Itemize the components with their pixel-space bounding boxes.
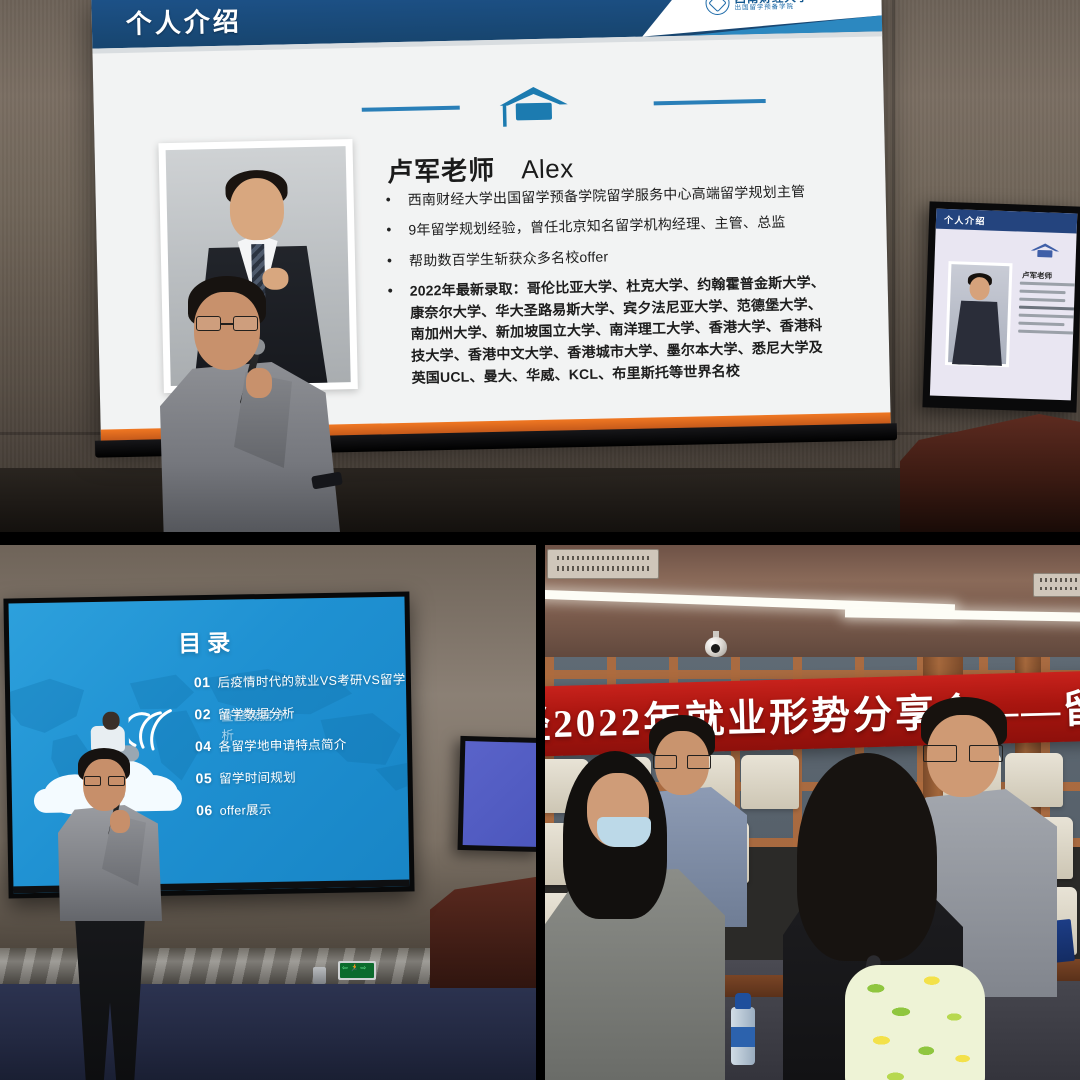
side-monitor-title: 个人介绍	[936, 209, 1078, 234]
divider-row	[93, 75, 884, 136]
side-monitor-person-name: 卢军老师	[1022, 270, 1052, 282]
toc-label: 留学数据分析	[218, 702, 295, 722]
toc-item: 02 留学数据分析	[194, 700, 409, 723]
graduation-cap-icon	[1030, 242, 1061, 261]
swufe-crest-icon	[705, 0, 730, 15]
toc-list: 01 后疫情时代的就业VS考研VS留学 02 留学数据分析 04 各留学地申请特…	[194, 668, 410, 832]
toc-number: 04	[195, 738, 212, 754]
logo-subtitle: 出国留学预备学院	[735, 4, 810, 12]
toc-item: 06 offer展示	[196, 796, 410, 819]
photo-collage: 个人介绍 西南财经大学 出国留学预备学院	[0, 0, 1080, 1080]
speaker-glasses	[84, 776, 125, 786]
toc-title: 目录	[9, 621, 406, 662]
slide-title: 个人介绍	[125, 1, 242, 41]
person-name-row: 卢军老师Alex	[387, 148, 574, 189]
audience-person	[545, 751, 725, 1080]
toc-label: 后疫情时代的就业VS考研VS留学	[217, 669, 405, 691]
wall-seam	[892, 0, 895, 532]
backpack	[845, 965, 985, 1080]
ptz-dome-camera-icon	[705, 631, 727, 657]
bullet-item: 帮助数百学生斩获众多名校offer	[383, 241, 851, 272]
bullet-list: 西南财经大学出国留学预备学院留学服务中心高端留学规划主管 9年留学规划经验，曾任…	[382, 180, 854, 399]
divider-line-left	[362, 106, 460, 112]
university-logo: 西南财经大学 出国留学预备学院	[705, 0, 809, 15]
speaker-person	[160, 276, 340, 532]
toc-number: 05	[195, 770, 212, 786]
trash-bin	[313, 967, 326, 984]
ac-vent	[547, 549, 659, 579]
toc-item: 05 留学时间规划	[195, 764, 409, 787]
divider-line-right	[654, 99, 766, 105]
wifi-signal-icon	[128, 707, 173, 752]
speaker-hand	[110, 810, 130, 833]
side-monitor-screen: 个人介绍 卢军老师	[930, 209, 1077, 401]
graduation-cap-icon	[497, 84, 570, 128]
side-monitor-text-lines	[1018, 282, 1077, 340]
toc-number: 06	[196, 802, 213, 818]
speaker-glasses	[196, 316, 258, 331]
side-monitor-portrait	[945, 261, 1013, 367]
toc-item: 01 后疫情时代的就业VS考研VS留学	[194, 668, 410, 691]
photo-panel-top: 个人介绍 西南财经大学 出国留学预备学院	[0, 0, 1080, 532]
photo-panel-bottom-left: 目录 01 后疫情时代的就业VS考研VS留学 02 留学数据分析 04 各留学地…	[0, 545, 536, 1080]
person-name-cn: 卢军老师	[387, 155, 496, 187]
toc-number: 02	[194, 706, 211, 722]
ac-vent	[1033, 573, 1080, 597]
speaker-hand	[246, 368, 272, 398]
side-monitor-right: 个人介绍 卢军老师	[922, 201, 1080, 412]
side-monitor	[458, 736, 536, 852]
portrait-face	[229, 178, 284, 241]
photo-panel-bottom-right: 经2022年就业形势分享会——留学专场	[545, 545, 1080, 1080]
bullet-item-admissions: 2022年最新录取：哥伦比亚大学、杜克大学、约翰霍普金斯大学、 康奈尔大学、华大…	[384, 271, 854, 390]
toc-label: offer展示	[220, 799, 272, 819]
speaker-face	[194, 292, 260, 370]
speaker-person	[58, 748, 162, 1080]
water-bottle	[731, 993, 755, 1065]
emergency-exit-icon	[338, 961, 376, 980]
person-hair	[797, 753, 937, 961]
side-monitor-screen	[463, 741, 536, 847]
toc-number: 01	[194, 674, 211, 690]
toc-label: 留学时间规划	[219, 766, 296, 786]
speaker-trousers	[72, 918, 148, 1080]
bullet-item: 9年留学规划经验，曾任北京知名留学机构经理、主管、总监	[382, 210, 850, 241]
person-name-en: Alex	[521, 153, 574, 184]
face-mask	[597, 817, 651, 847]
